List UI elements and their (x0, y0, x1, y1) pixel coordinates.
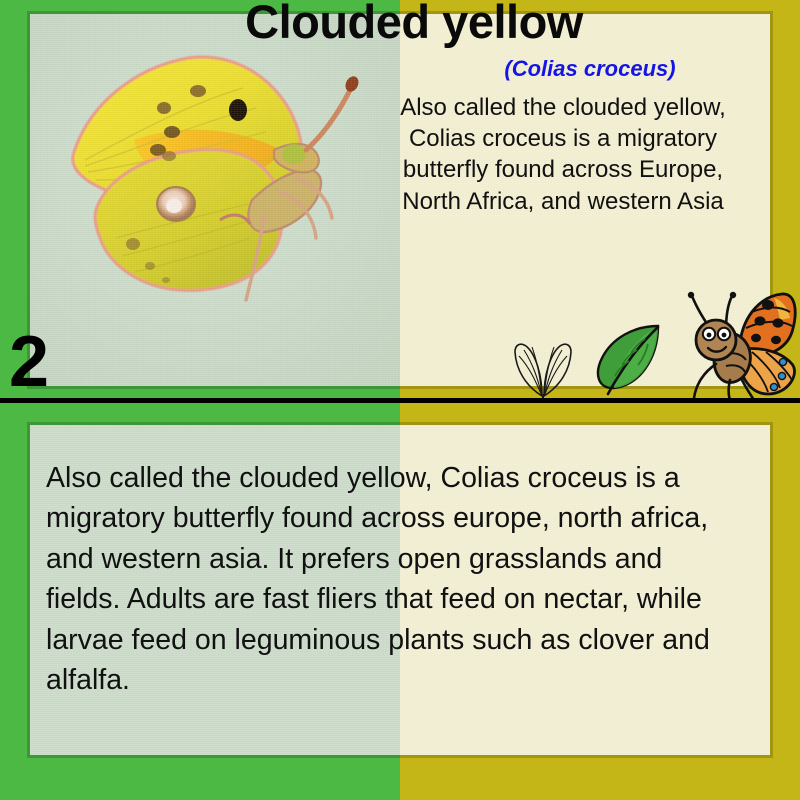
butterfly-photo-frame (30, 14, 400, 386)
panel-divider (0, 398, 800, 403)
hindwing-eyespot-center (166, 199, 182, 213)
long-description: Also called the clouded yellow, Colias c… (46, 458, 716, 701)
cartoon-butterfly-icon (682, 290, 798, 398)
wing-spot (126, 238, 140, 250)
wing-spot (162, 151, 176, 161)
short-description: Also called the clouded yellow, Colias c… (398, 92, 728, 217)
info-card: Clouded yellow (Colias croceus) Also cal… (0, 0, 800, 800)
scientific-name: (Colias croceus) (400, 56, 780, 82)
wing-spot-dark (229, 99, 247, 121)
green-leaf-icon (588, 316, 674, 398)
wing-spot (162, 277, 170, 283)
butterfly-eye (282, 144, 306, 164)
cartoon-head (696, 320, 736, 360)
decorative-icon-row (488, 282, 798, 398)
wing-spot (164, 126, 180, 138)
page-number: 2 (9, 326, 49, 398)
wing-spot (157, 102, 171, 114)
top-panel: Clouded yellow (Colias croceus) Also cal… (0, 0, 800, 398)
page-title: Clouded yellow (0, 0, 800, 46)
bottom-panel: Also called the clouded yellow, Colias c… (0, 403, 800, 800)
butterfly-photo (38, 32, 393, 352)
wing-spot (190, 85, 206, 97)
insect-wings-outline-icon (506, 328, 580, 398)
wing-spot (145, 262, 155, 270)
antenna-club (343, 74, 361, 94)
antenna (306, 90, 350, 150)
